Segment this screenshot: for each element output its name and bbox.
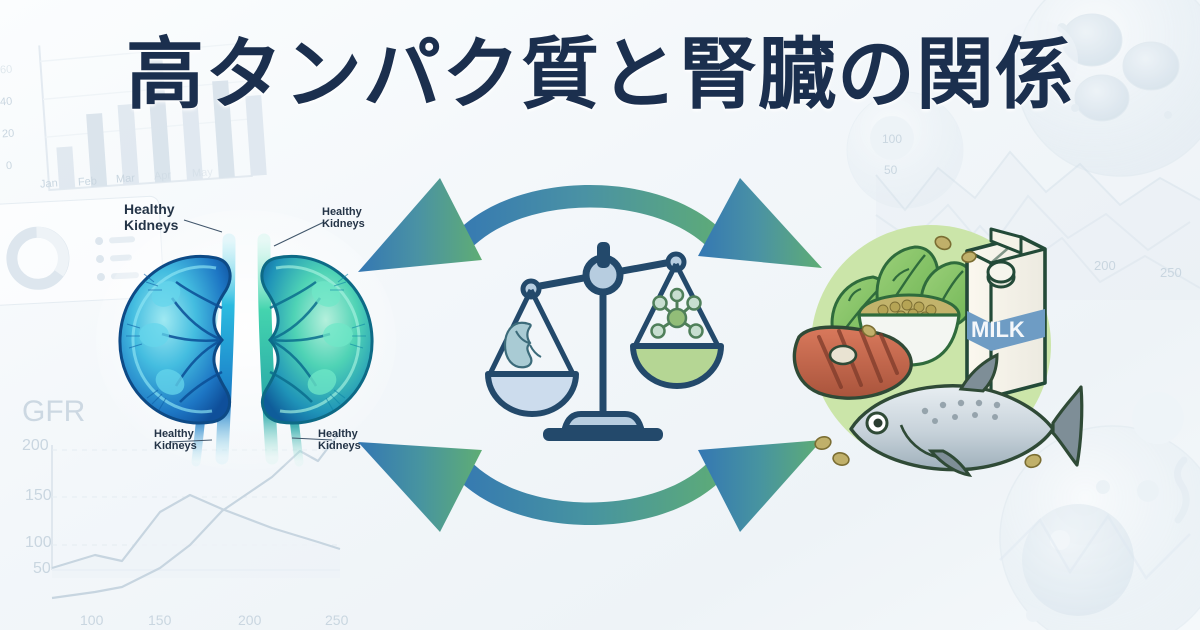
scale-base [543,414,663,441]
bar-chart-xtick-feb: Feb [78,175,98,188]
gfr-ytick-100: 100 [25,534,52,552]
page-title: 高タンパク質と腎臓の関係 [0,36,1200,114]
gfr-xtick-100: 100 [80,612,103,628]
right-chart-ytick-50: 50 [884,163,897,177]
gfr-chart-title: GFR [22,395,85,429]
balance-scale-illustration [465,228,740,463]
protein-foods-svg: MILK [785,215,1085,480]
bar-chart-xtick-may: May [192,166,214,179]
bar-chart-ytick-20: 20 [2,128,15,141]
gfr-xtick-250: 250 [325,612,348,628]
gfr-ytick-150: 150 [25,487,52,505]
bottom-right-zigzag [1000,516,1190,578]
right-chart-xtick-250: 250 [1160,265,1182,280]
kidney-icon [505,323,541,368]
right-chart-ytick-100: 100 [882,132,902,146]
bar-chart-ytick-0: 0 [6,160,13,172]
scale-left-pan [488,290,576,414]
gfr-ytick-50: 50 [33,560,51,578]
kidney-label-bottom-left: Healthy Kidneys [154,428,197,453]
right-chart-xtick-200: 200 [1094,258,1116,273]
scale-right-pan [633,264,721,386]
bar-chart-xtick-mar: Mar [116,172,136,185]
protein-foods-illustration: MILK [785,215,1085,480]
gfr-xtick-200: 200 [238,612,261,628]
kidney-label-top-left: Healthy Kidneys [124,202,178,233]
gfr-ytick-200: 200 [22,437,49,455]
milk-carton-text: MILK [971,317,1025,342]
bar-chart-xtick-apr: Apr [154,169,172,182]
bar-chart-xtick-jan: Jan [40,177,59,190]
steak [794,327,911,398]
gfr-xtick-150: 150 [148,612,171,628]
infographic-canvas: 0 20 40 60 Jan Feb Mar Apr May GFR 200 1… [0,0,1200,630]
balance-scale-svg [465,228,740,463]
molecule-icon [652,289,703,338]
